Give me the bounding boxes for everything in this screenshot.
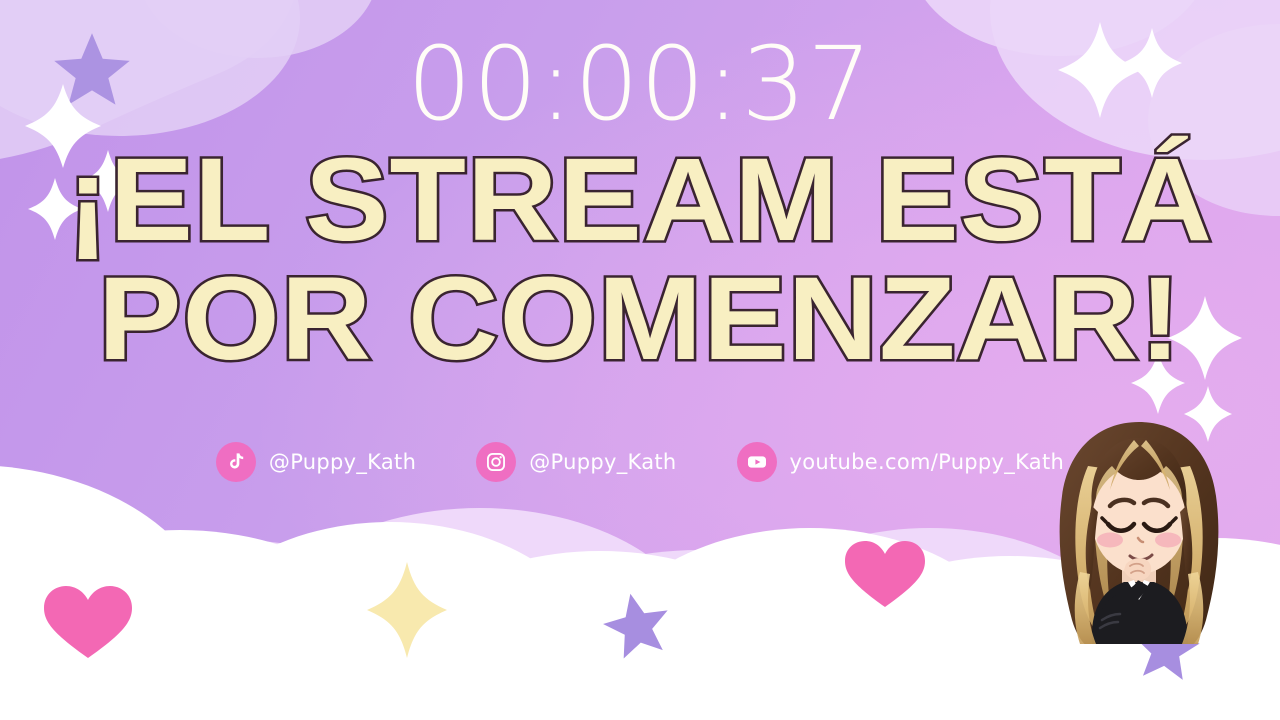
stream-starting-overlay: 00:00:37 ¡EL STREAM ESTÁ POR COMENZAR! @… xyxy=(0,0,1280,720)
countdown-timer: 00:00:37 xyxy=(0,34,1280,136)
headline-line-2: POR COMENZAR! xyxy=(0,265,1280,374)
youtube-icon xyxy=(737,442,777,482)
sparkle-icon-mr-1 xyxy=(1168,296,1242,380)
headline-line-1: ¡EL STREAM ESTÁ xyxy=(0,146,1280,255)
heart-icon-bottom-left xyxy=(44,586,132,658)
instagram-icon xyxy=(476,442,516,482)
streamer-avatar xyxy=(1030,414,1248,644)
page-title: ¡EL STREAM ESTÁ POR COMENZAR! xyxy=(0,146,1280,373)
heart-icon-bottom-center xyxy=(845,541,925,607)
sparkle-icon-tl-2 xyxy=(81,150,135,212)
social-handle-tiktok: @Puppy_Kath xyxy=(269,450,416,474)
star-icon-bottom-center xyxy=(598,587,675,661)
social-handle-instagram: @Puppy_Kath xyxy=(529,450,676,474)
social-link-instagram[interactable]: @Puppy_Kath xyxy=(476,442,676,482)
sparkle-icon-bottom-cream xyxy=(367,562,447,658)
sparkle-icon-mr-2 xyxy=(1131,352,1185,414)
social-link-youtube[interactable]: youtube.com/Puppy_Kath xyxy=(737,442,1065,482)
social-link-tiktok[interactable]: @Puppy_Kath xyxy=(216,442,416,482)
social-handle-youtube: youtube.com/Puppy_Kath xyxy=(790,450,1065,474)
sparkle-icon-tl-3 xyxy=(28,178,82,240)
tiktok-icon xyxy=(216,442,256,482)
